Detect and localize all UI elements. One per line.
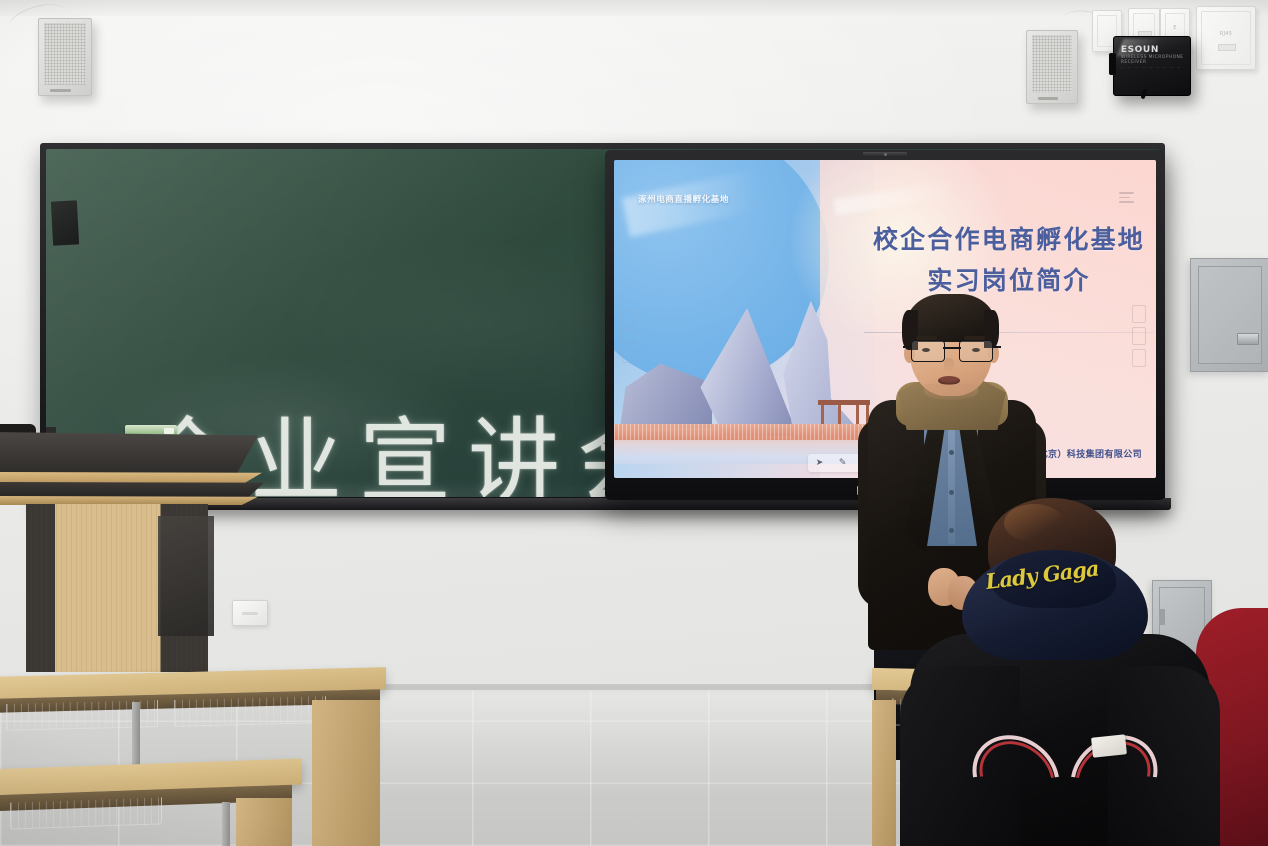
wall-plate-4-label: RJ45: [1197, 31, 1255, 37]
lectern-top-surface: [0, 432, 258, 474]
right-control-button[interactable]: [1132, 349, 1146, 367]
hoodie-label-tag: [1091, 734, 1127, 757]
glasses-temple-right: [993, 346, 1001, 348]
classroom-scene-photo: E RJ45 ESOUN WIRELESS MICROPHONE RECEIVE…: [0, 0, 1268, 846]
lectern-podium[interactable]: [0, 432, 268, 672]
speaker-brand-plate: [50, 89, 71, 92]
desk-side-panel: [236, 798, 292, 846]
slide-title: 校企合作电商孵化基地 实习岗位简介: [854, 220, 1156, 301]
panel-latch[interactable]: [1237, 333, 1259, 345]
lens-right: [959, 340, 993, 362]
wall-plate-3-label: E: [1161, 25, 1189, 31]
slide-right-controls[interactable]: [1132, 305, 1146, 371]
building-1: [620, 358, 712, 428]
lens-left: [911, 340, 945, 362]
graphic-arc-inner-left: [965, 726, 1069, 827]
left-control-button[interactable]: [622, 348, 635, 363]
nose: [944, 358, 954, 372]
wall-speaker-left: [38, 18, 92, 96]
speaker-grille: [44, 23, 86, 85]
right-control-button[interactable]: [1132, 305, 1146, 323]
wall-access-panel-upper[interactable]: [1190, 258, 1268, 372]
panel-camera: [863, 152, 907, 157]
student-hair-highlight: [1004, 504, 1064, 542]
av-receiver-box[interactable]: ESOUN WIRELESS MICROPHONE RECEIVER: [1113, 36, 1191, 96]
plate-slot: [1218, 44, 1236, 51]
panel-inset: [1198, 266, 1262, 364]
student-desk-row-2-left: [0, 764, 306, 846]
slide-title-line-1: 校企合作电商孵化基地: [854, 220, 1156, 261]
speaker-grille: [1032, 35, 1072, 93]
desk-basket: [174, 696, 326, 727]
glasses-temple-left: [903, 346, 911, 348]
av-box-sub-label: WIRELESS MICROPHONE RECEIVER: [1121, 55, 1190, 65]
slide-left-controls[interactable]: [622, 310, 635, 356]
shirt-button: [949, 490, 954, 495]
cursor-tool-icon[interactable]: ➤: [816, 459, 824, 468]
plate-inner: [1201, 11, 1251, 65]
lectern-edge-dark: [0, 482, 264, 498]
wall-plate-4[interactable]: RJ45: [1196, 6, 1256, 70]
av-box-brand-label: ESOUN: [1121, 45, 1159, 55]
wall-speaker-right: [1026, 30, 1078, 104]
blackboard-tape-patch: [51, 200, 79, 245]
av-box-vents: [1121, 67, 1183, 68]
lectern-equipment-bay: [158, 516, 214, 636]
speaker-brand-plate: [1038, 97, 1058, 100]
hoodie-back-graphic: [970, 710, 1160, 820]
glasses-bridge: [943, 347, 961, 349]
chin-shadow: [924, 384, 978, 400]
desk-leg: [222, 802, 230, 846]
desk-side-panel: [872, 700, 896, 846]
hamburger-menu-icon[interactable]: [1119, 192, 1134, 202]
slide-logo-text: 涿州电商直播孵化基地: [638, 193, 729, 205]
right-control-button[interactable]: [1132, 327, 1146, 345]
shirt-button: [949, 450, 954, 455]
antenna-left: [1109, 53, 1116, 75]
desk-basket: [10, 797, 162, 829]
pen-tool-icon[interactable]: ✎: [839, 459, 847, 468]
left-control-button[interactable]: [622, 329, 635, 344]
left-control-button[interactable]: [622, 310, 635, 325]
seated-student-foreground: Lady Gaga: [900, 498, 1220, 846]
desk-side-panel: [312, 700, 380, 846]
